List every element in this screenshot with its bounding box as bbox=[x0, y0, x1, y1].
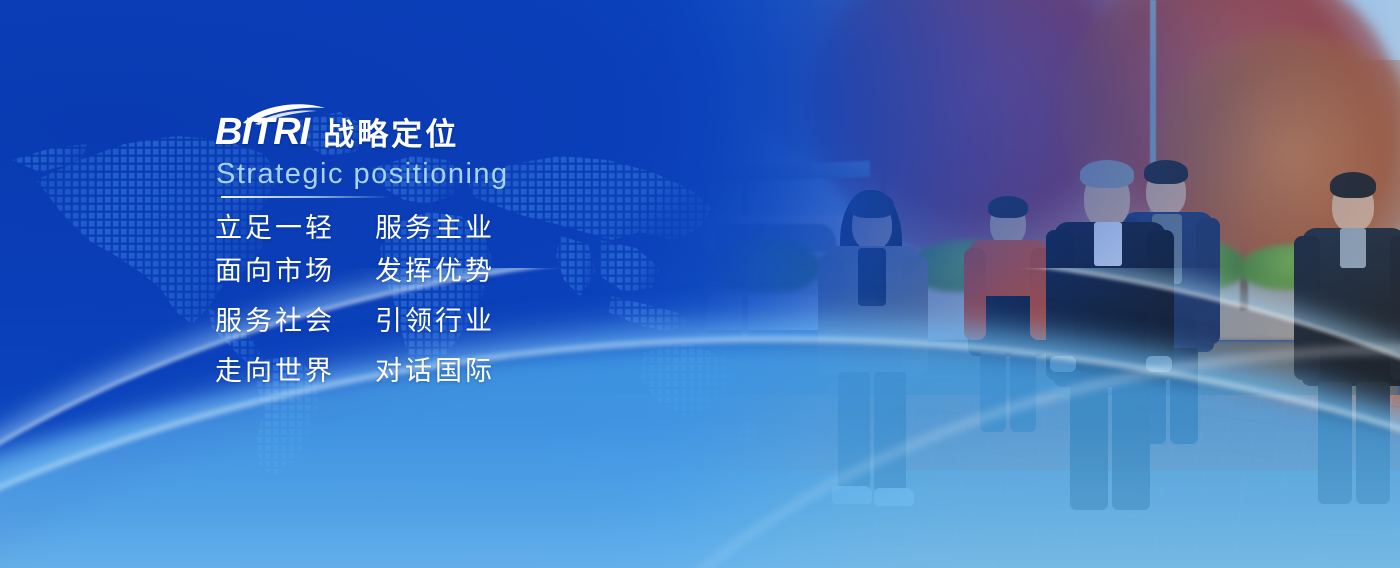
slogan-row: 服务社会 引领行业 bbox=[215, 300, 615, 343]
slogan-right: 对话国际 bbox=[375, 350, 497, 393]
brand-lockup: BITRI 战略定位 bbox=[215, 112, 459, 154]
slogan-row: 走向世界 对话国际 bbox=[215, 350, 615, 393]
tile-pavement bbox=[600, 470, 1400, 568]
bitri-logo: BITRI bbox=[215, 112, 309, 154]
person-leader-black-jacket bbox=[1050, 160, 1170, 510]
slogan-right: 发挥优势 bbox=[375, 250, 497, 293]
slogan-row: 立足一轻 服务主业 bbox=[215, 207, 615, 250]
slogan-right: 服务主业 bbox=[375, 207, 497, 250]
bitri-wordmark: BITRI bbox=[215, 112, 309, 152]
brand-subtitle-en: Strategic positioning bbox=[216, 158, 509, 191]
slogan-row: 面向市场 发挥优势 bbox=[215, 250, 615, 293]
person-orange-jacket bbox=[968, 196, 1050, 426]
slogan-list: 立足一轻 服务主业 面向市场 发挥优势 服务社会 引领行业 走向世界 对话国际 bbox=[215, 207, 615, 393]
slogan-left: 立足一轻 bbox=[215, 207, 337, 250]
person-dark-jacket-right bbox=[1300, 172, 1400, 502]
brand-title-cn: 战略定位 bbox=[323, 116, 459, 154]
hero-text-block: BITRI 战略定位 Strategic positioning 立足一轻 服务… bbox=[0, 0, 620, 568]
divider-rule bbox=[221, 196, 391, 198]
banner-hero: BITRI 战略定位 Strategic positioning 立足一轻 服务… bbox=[0, 0, 1400, 568]
slogan-right: 引领行业 bbox=[375, 300, 497, 343]
person-woman-grey-coat bbox=[818, 190, 928, 520]
slogan-left: 面向市场 bbox=[215, 250, 337, 293]
slogan-left: 走向世界 bbox=[215, 350, 337, 393]
slogan-left: 服务社会 bbox=[215, 300, 337, 343]
